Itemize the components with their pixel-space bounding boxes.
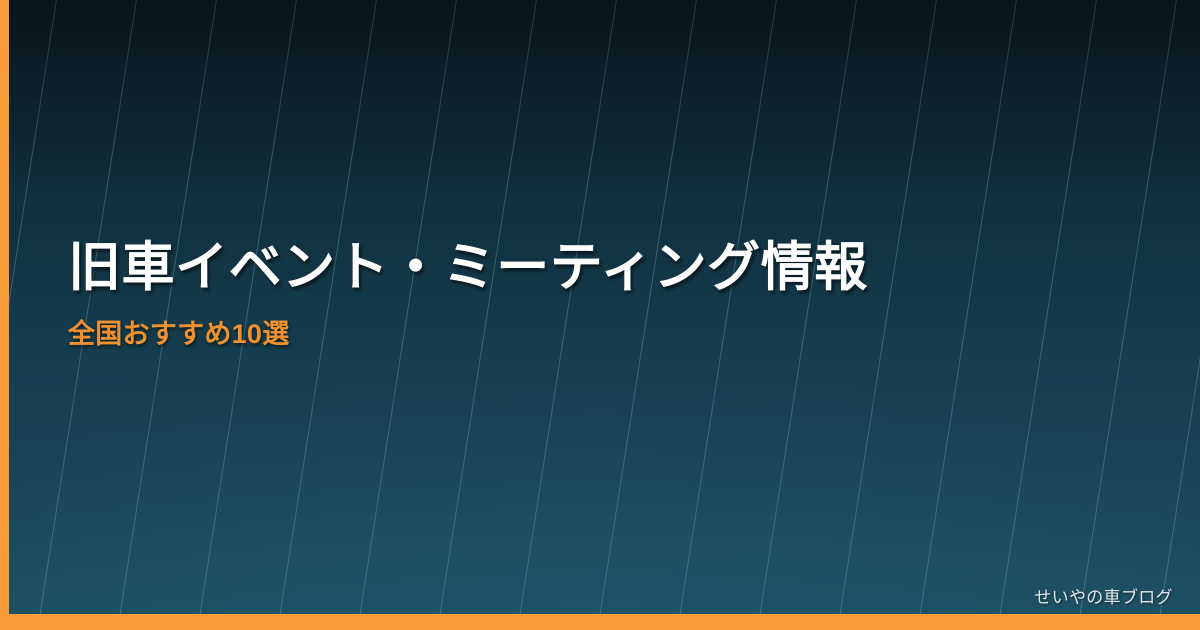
- card-text-block: 旧車イベント・ミーティング情報 全国おすすめ10選: [68, 236, 1128, 352]
- og-image-card: 旧車イベント・ミーティング情報 全国おすすめ10選 せいやの車ブログ: [0, 0, 1200, 630]
- page-title: 旧車イベント・ミーティング情報: [68, 236, 1128, 301]
- page-subtitle: 全国おすすめ10選: [68, 317, 1128, 352]
- site-credit: せいやの車ブログ: [1034, 583, 1173, 608]
- accent-bar-left: [0, 0, 9, 630]
- accent-bar-bottom: [0, 614, 1200, 630]
